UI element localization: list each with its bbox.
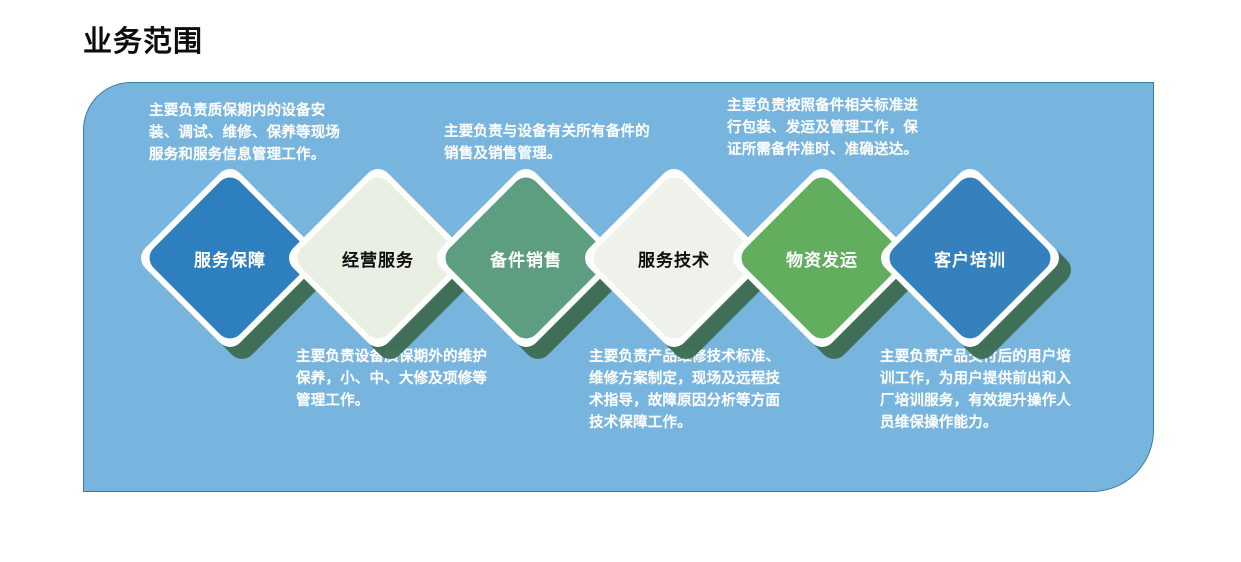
note-service-guarantee: 主要负责质保期内的设备安装、调试、维修、保养等现场服务和服务信息管理工作。 bbox=[149, 100, 353, 166]
note-spare-parts-sales: 主要负责与设备有关所有备件的销售及销售管理。 bbox=[444, 121, 652, 165]
diamond-label: 经营服务 bbox=[311, 191, 445, 325]
diamond-label: 物资发运 bbox=[755, 191, 889, 325]
slide-root: 业务范围 主要负责质保期内的设备安装、调试、维修、保养等现场服务和服务信息管理工… bbox=[0, 0, 1241, 562]
diamond-node-customer-training[interactable]: 客户培训 bbox=[903, 191, 1061, 349]
diamond-label: 备件销售 bbox=[459, 191, 593, 325]
note-material-shipping: 主要负责按照备件相关标准进行包装、发运及管理工作，保证所需备件准时、准确送达。 bbox=[727, 95, 931, 161]
diamond-label: 客户培训 bbox=[903, 191, 1037, 325]
diamond-label: 服务技术 bbox=[607, 191, 741, 325]
note-service-technology: 主要负责产品维修技术标准、维修方案制定，现场及远程技术指导，故障原因分析等方面技… bbox=[589, 346, 789, 434]
page-title: 业务范围 bbox=[83, 27, 203, 59]
diamond-label: 服务保障 bbox=[163, 191, 297, 325]
